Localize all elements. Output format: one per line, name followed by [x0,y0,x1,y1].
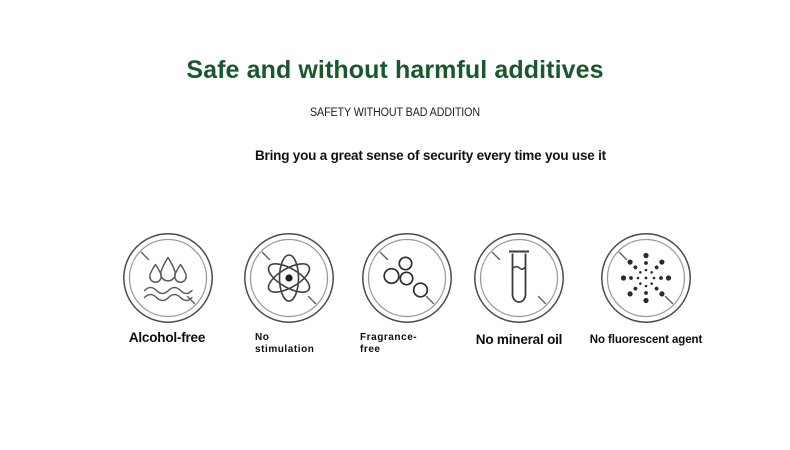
feature-label-no-fluorescent-agent: No fluorescent agent [571,332,721,348]
feature-label-alcohol-free: Alcohol-free [121,330,213,346]
feature-label-line: No mineral oil [451,332,587,348]
test-tube-icon [473,232,565,324]
atom-icon [243,232,335,324]
radial-dots-icon [600,232,692,324]
bubbles-icon [361,232,453,324]
feature-item-no-stimulation: No stimulation [243,232,347,356]
feature-item-no-mineral-oil: No mineral oil [473,232,587,348]
feature-label-no-stimulation: No stimulation [255,332,347,356]
page-title: Safe and without harmful additives [0,55,790,85]
feature-label-line: stimulation [255,344,347,356]
feature-label-line: No fluorescent agent [571,332,721,348]
feature-label-line: No [255,332,347,344]
feature-item-no-fluorescent-agent: No fluorescent agent [600,232,721,348]
water-drops-icon [122,232,214,324]
page-subtitle: SAFETY WITHOUT BAD ADDITION [28,106,763,120]
lead-paragraph: Bring you a great sense of security ever… [255,146,647,165]
promo-banner: Safe and without harmful additives SAFET… [0,0,790,450]
feature-label-line: Alcohol-free [121,330,213,346]
feature-label-no-mineral-oil: No mineral oil [451,332,587,348]
feature-icon-row: Alcohol-free [0,232,790,372]
feature-item-alcohol-free: Alcohol-free [122,232,214,346]
